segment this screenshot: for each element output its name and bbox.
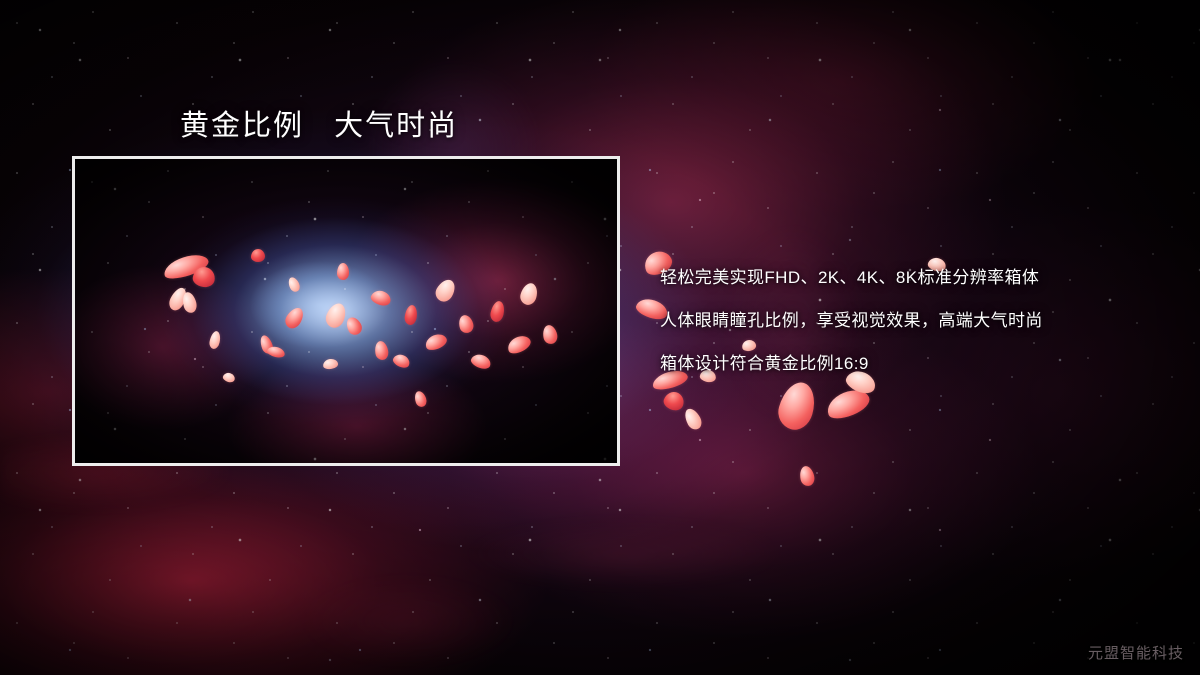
watermark: 元盟智能科技 xyxy=(1088,642,1184,663)
framed-photo xyxy=(72,156,620,466)
photo-image xyxy=(75,159,617,463)
body-line: 人体眼睛瞳孔比例，享受视觉效果，高端大气时尚 xyxy=(660,299,1180,342)
body-copy-block: 轻松完美实现FHD、2K、4K、8K标准分辨率箱体 人体眼睛瞳孔比例，享受视觉效… xyxy=(660,256,1180,385)
photo-vignette xyxy=(75,159,617,463)
body-line: 轻松完美实现FHD、2K、4K、8K标准分辨率箱体 xyxy=(660,256,1180,299)
body-line: 箱体设计符合黄金比例16:9 xyxy=(660,342,1180,385)
petal xyxy=(251,249,265,262)
page-title: 黄金比例 大气时尚 xyxy=(180,102,458,144)
petal xyxy=(337,263,349,280)
presentation-slide: 黄金比例 大气时尚 轻松完美实现FHD、2K、4K、8K标准分辨率箱体 人体眼睛… xyxy=(0,0,1200,675)
